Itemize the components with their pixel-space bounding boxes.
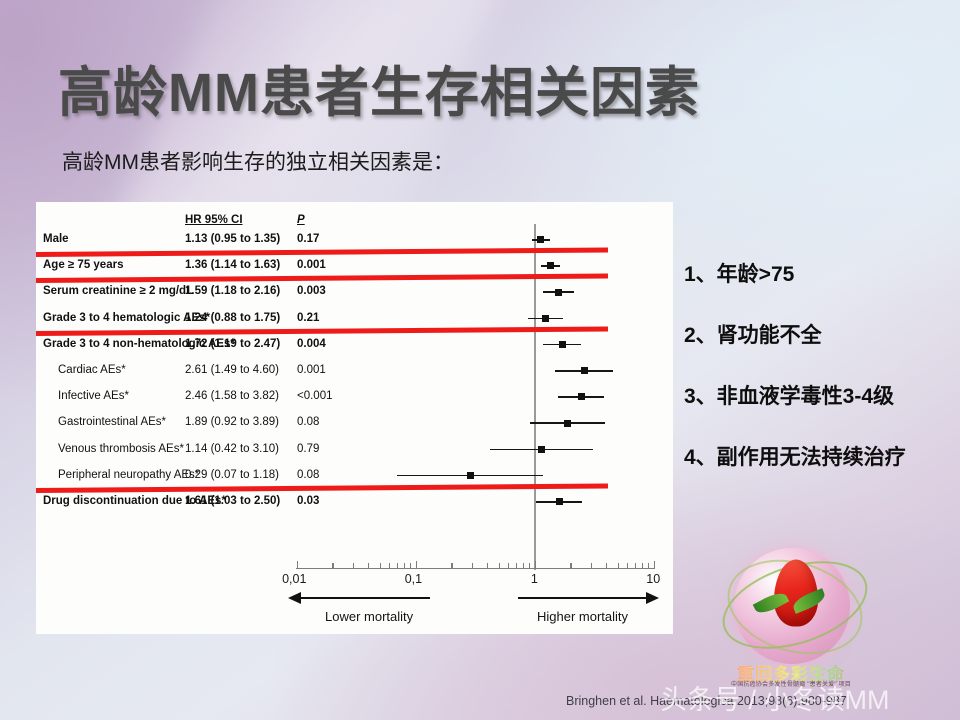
axis-tick (380, 563, 381, 569)
axis-tick (451, 563, 452, 569)
point-estimate-marker (538, 446, 545, 453)
axis-tick (606, 563, 607, 569)
row-hr-ci: 1.14 (0.42 to 3.10) (185, 443, 279, 455)
row-label: Cardiac AEs* (58, 364, 126, 376)
axis-tick-label: 10 (646, 572, 660, 586)
row-p-value: 0.001 (297, 364, 326, 376)
axis-tick (516, 563, 517, 569)
row-label: Age ≥ 75 years (43, 259, 123, 271)
key-factor-item-3: 3、非血液学毒性3-4级 (684, 380, 960, 410)
row-label: Venous thrombosis AEs* (58, 443, 184, 455)
page-subtitle: 高龄MM患者影响生存的独立相关因素是： (62, 146, 454, 176)
axis-tick (508, 563, 509, 569)
row-hr-ci: 2.61 (1.49 to 4.60) (185, 364, 279, 376)
row-label: Peripheral neuropathy AEs* (58, 469, 199, 481)
point-estimate-marker (564, 420, 571, 427)
row-hr-ci: 1.36 (1.14 to 1.63) (185, 259, 280, 271)
forest-row: Drug discontinuation due to AEs*1.61 (1.… (0, 495, 637, 521)
point-estimate-marker (555, 289, 562, 296)
axis-tick (648, 563, 649, 569)
axis-tick (535, 561, 536, 569)
axis-tick (368, 563, 369, 569)
axis-tick-label: 0,01 (282, 572, 306, 586)
point-estimate-marker (559, 341, 566, 348)
axis-tick (570, 563, 571, 569)
row-hr-ci: 2.46 (1.58 to 3.82) (185, 390, 279, 402)
row-label: Serum creatinine ≥ 2 mg/dL (43, 285, 193, 297)
row-p-value: 0.21 (297, 312, 319, 324)
axis-tick (389, 563, 390, 569)
x-axis-line (296, 568, 654, 569)
program-logo: 重回多彩生命 中国抗癌协会多发性骨髓瘤 "患者关爱" 项目 (706, 548, 876, 684)
column-header-hr: HR 95% CI (185, 214, 243, 226)
row-p-value: 0.001 (297, 259, 326, 271)
lower-mortality-arrow-head (288, 592, 301, 604)
axis-tick (332, 563, 333, 569)
point-estimate-marker (467, 472, 474, 479)
higher-mortality-label: Higher mortality (537, 609, 628, 624)
point-estimate-marker (578, 393, 585, 400)
axis-tick (618, 563, 619, 569)
row-hr-ci: 1.13 (0.95 to 1.35) (185, 233, 280, 245)
forest-row: Grade 3 to 4 non-hematologic AEs*1.72 (1… (0, 338, 637, 364)
axis-tick (397, 563, 398, 569)
row-p-value: 0.003 (297, 285, 326, 297)
lower-mortality-arrow-line (300, 597, 430, 599)
row-p-value: 0.08 (297, 469, 319, 481)
axis-tick (635, 563, 636, 569)
key-factor-item-1: 1、年龄>75 (684, 258, 960, 288)
row-hr-ci: 1.89 (0.92 to 3.89) (185, 416, 279, 428)
axis-tick-label: 1 (531, 572, 538, 586)
forest-row: Serum creatinine ≥ 2 mg/dL1.59 (1.18 to … (0, 285, 637, 311)
higher-mortality-arrow-head (646, 592, 659, 604)
key-factor-item-2: 2、肾功能不全 (684, 319, 960, 349)
axis-tick-label: 0,1 (405, 572, 422, 586)
row-label: Male (43, 233, 69, 245)
row-p-value: 0.08 (297, 416, 319, 428)
point-estimate-marker (542, 315, 549, 322)
forest-row: Infective AEs*2.46 (1.58 to 3.82)<0.001 (0, 390, 637, 416)
row-hr-ci: 1.24 (0.88 to 1.75) (185, 312, 280, 324)
axis-tick (297, 561, 298, 569)
row-hr-ci: 1.61 (1.03 to 2.50) (185, 495, 280, 507)
axis-tick (642, 563, 643, 569)
row-hr-ci: 1.72 (1.19 to 2.47) (185, 338, 280, 350)
point-estimate-marker (537, 236, 544, 243)
point-estimate-marker (556, 498, 563, 505)
row-hr-ci: 1.59 (1.18 to 2.16) (185, 285, 280, 297)
lower-mortality-label: Lower mortality (325, 609, 413, 624)
point-estimate-marker (547, 262, 554, 269)
watermark: 头条号 / 小冬读MM (660, 678, 890, 717)
forest-row: Gastrointestinal AEs*1.89 (0.92 to 3.89)… (0, 416, 637, 442)
row-hr-ci: 0.29 (0.07 to 1.18) (185, 469, 279, 481)
axis-tick (404, 563, 405, 569)
page-title: 高龄MM患者生存相关因素 (58, 48, 700, 127)
axis-tick (499, 563, 500, 569)
axis-tick (353, 563, 354, 569)
forest-row: Cardiac AEs*2.61 (1.49 to 4.60)0.001 (0, 364, 637, 390)
row-p-value: 0.004 (297, 338, 326, 350)
axis-tick (529, 563, 530, 569)
row-label: Gastrointestinal AEs* (58, 416, 166, 428)
axis-tick (627, 563, 628, 569)
key-factor-item-4: 4、副作用无法持续治疗 (684, 441, 960, 471)
axis-tick (416, 561, 417, 569)
row-p-value: 0.17 (297, 233, 319, 245)
axis-tick (591, 563, 592, 569)
row-p-value: 0.79 (297, 443, 319, 455)
row-p-value: <0.001 (297, 390, 333, 402)
slide-canvas: 高龄MM患者生存相关因素 高龄MM患者影响生存的独立相关因素是： HR 95% … (0, 0, 960, 720)
axis-tick (654, 561, 655, 569)
axis-tick (472, 563, 473, 569)
higher-mortality-arrow-line (518, 597, 648, 599)
axis-tick (410, 563, 411, 569)
row-label: Infective AEs* (58, 390, 129, 402)
point-estimate-marker (581, 367, 588, 374)
row-p-value: 0.03 (297, 495, 319, 507)
axis-tick (523, 563, 524, 569)
key-factors-list: 1、年龄>752、肾功能不全3、非血液学毒性3-4级4、副作用无法持续治疗 (684, 258, 960, 502)
axis-tick (487, 563, 488, 569)
column-header-p: P (297, 214, 305, 226)
